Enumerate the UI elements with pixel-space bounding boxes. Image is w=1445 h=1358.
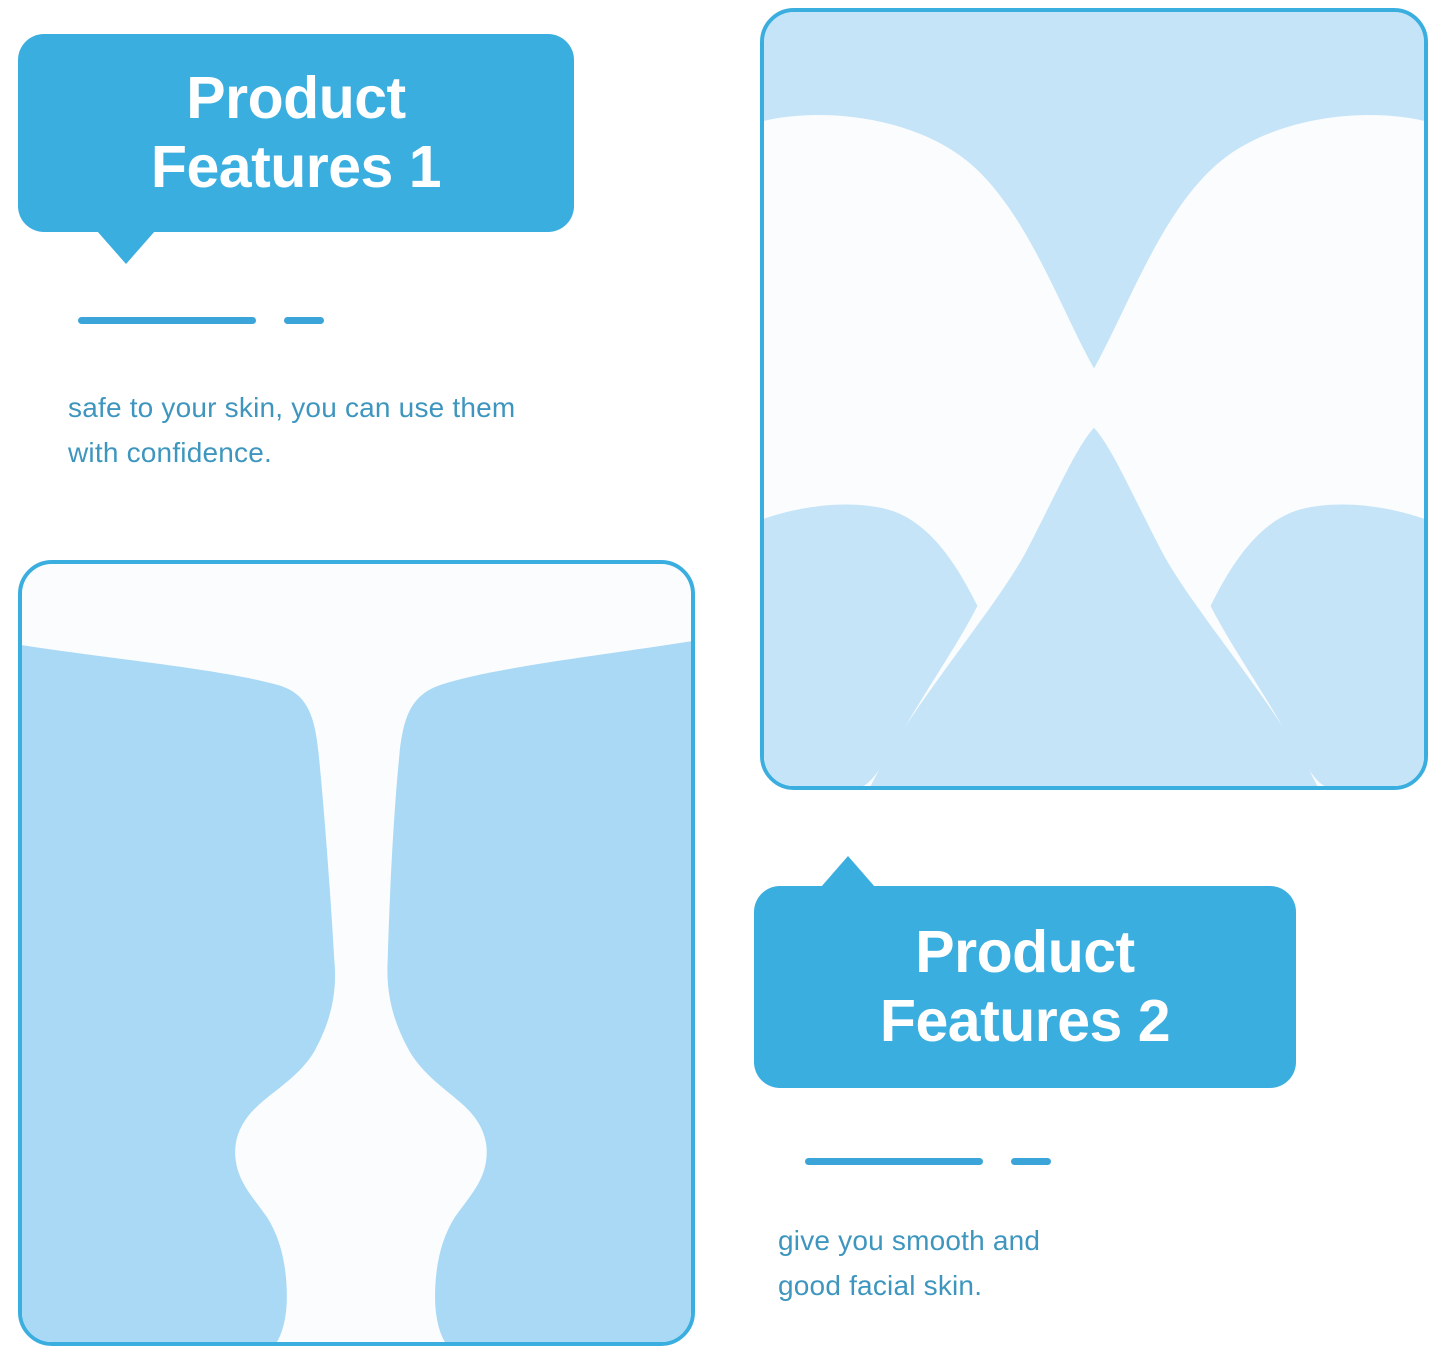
feature-1-divider — [78, 317, 324, 324]
divider-long-rule-icon — [805, 1158, 983, 1165]
product-image-bottom-left — [18, 560, 695, 1346]
hourglass-strip-illustration — [764, 12, 1424, 786]
feature-1-title-text: Product Features 1 — [137, 64, 455, 202]
divider-short-rule-icon — [284, 317, 324, 324]
feature-2-bubble-tail-icon — [821, 856, 875, 887]
feature-1-description: safe to your skin, you can use them with… — [68, 385, 668, 476]
divider-short-rule-icon — [1011, 1158, 1051, 1165]
feature-1-title-bubble: Product Features 1 — [18, 34, 574, 232]
feature-1-bubble-tail-icon — [97, 231, 155, 264]
y-strip-illustration — [22, 564, 691, 1342]
feature-2-title-bubble: Product Features 2 — [754, 886, 1296, 1088]
feature-2-divider — [805, 1158, 1051, 1165]
divider-long-rule-icon — [78, 317, 256, 324]
product-image-top-right — [760, 8, 1428, 790]
feature-2-title-text: Product Features 2 — [866, 918, 1184, 1056]
feature-2-description: give you smooth and good facial skin. — [778, 1218, 1208, 1309]
